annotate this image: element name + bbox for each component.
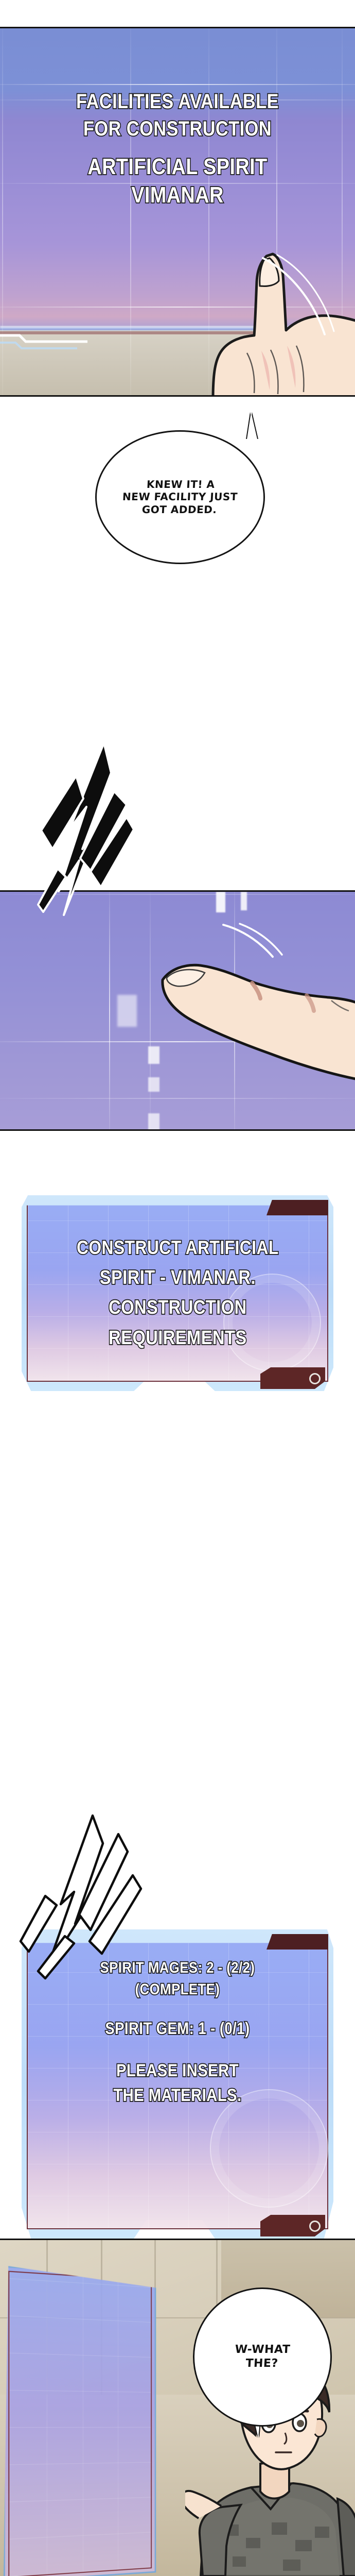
speech-bubble-what-the-text: W-WHAT THE?	[234, 2343, 291, 2371]
bubble-line-2: THE?	[245, 2357, 279, 2370]
speech-bubble-what-the: W-WHAT THE?	[193, 2287, 332, 2427]
bubble-line-3: GOT ADDED.	[141, 503, 217, 516]
holo-data-blip	[148, 1113, 159, 1131]
holo-grid-line	[150, 892, 151, 1129]
construct-line-4: REQUIREMENTS	[77, 1327, 279, 1349]
announce-line-3: ARTIFICIAL SPIRIT	[25, 154, 330, 179]
announce-line-2: FOR CONSTRUCTION	[25, 117, 330, 141]
speech-bubble-tail	[247, 412, 257, 439]
construct-line-2: SPIRIT - VIMANAR.	[77, 1267, 279, 1289]
instruction-line-1: PLEASE INSERT	[100, 2061, 255, 2080]
holo-data-blip	[241, 892, 247, 910]
construct-line-1: CONSTRUCT ARTIFICIAL	[77, 1237, 279, 1258]
holo-grid-line	[109, 892, 110, 1129]
webtoon-page: FACILITIES AVAILABLE FOR CONSTRUCTION AR…	[0, 0, 355, 2576]
fingertip	[154, 946, 355, 1100]
impact-sfx-outline-icon	[11, 1814, 166, 1984]
panel-facilities-available: FACILITIES AVAILABLE FOR CONSTRUCTION AR…	[0, 27, 355, 397]
instruction-line-2: THE MATERIALS.	[100, 2086, 255, 2105]
motion-swoosh-icon	[260, 254, 342, 342]
impact-sfx-icon	[26, 742, 206, 917]
speech-bubble-knew-it-text: KNEW IT! A NEW FACILITY JUST GOT ADDED.	[121, 478, 239, 516]
requirement-spirit-gem: SPIRIT GEM: 1 - (0/1)	[100, 2020, 255, 2038]
bubble-line-1: KNEW IT! A	[146, 478, 215, 490]
holo-grid-line	[0, 84, 355, 85]
announce-line-4: VIMANAR	[25, 182, 330, 208]
speech-bubble-knew-it: KNEW IT! A NEW FACILITY JUST GOT ADDED.	[95, 430, 265, 564]
facility-announcement-text: FACILITIES AVAILABLE FOR CONSTRUCTION AR…	[25, 90, 330, 208]
holo-data-blip	[216, 892, 225, 912]
construct-line-3: CONSTRUCTION	[77, 1297, 279, 1319]
construct-prompt-text: CONSTRUCT ARTIFICIAL SPIRIT - VIMANAR. C…	[77, 1237, 279, 1349]
panel-finger-touch	[0, 890, 355, 1131]
announce-line-1: FACILITIES AVAILABLE	[25, 90, 330, 113]
floating-system-panel[interactable]	[4, 2266, 156, 2576]
system-window-construct-prompt[interactable]: CONSTRUCT ARTIFICIAL SPIRIT - VIMANAR. C…	[22, 1195, 333, 1391]
holo-data-blip	[117, 995, 137, 1027]
bubble-line-1: W-WHAT	[235, 2343, 291, 2356]
holo-corner-bracket	[0, 331, 206, 352]
motion-swoosh-icon	[221, 923, 288, 964]
bubble-line-2: NEW FACILITY JUST	[122, 491, 238, 503]
